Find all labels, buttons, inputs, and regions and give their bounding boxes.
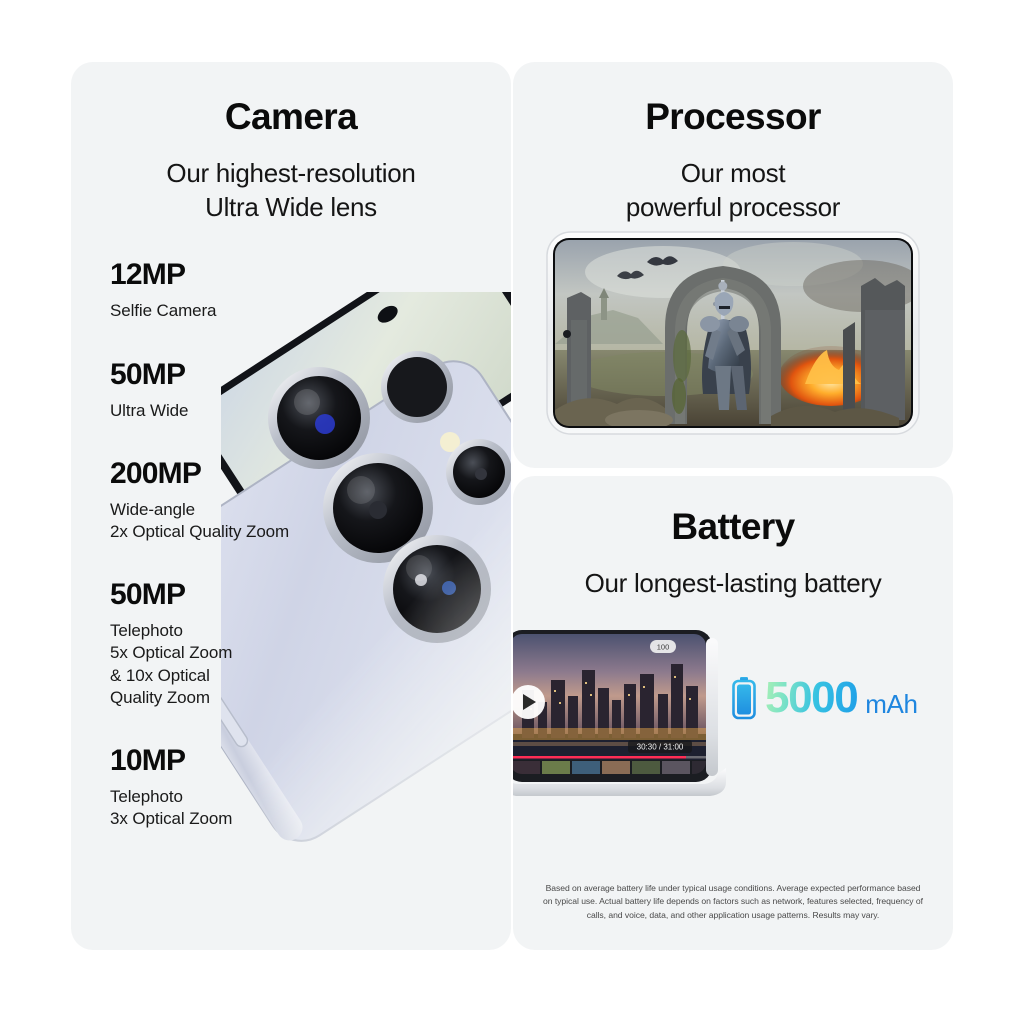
battery-capacity: 5000 mAh xyxy=(731,676,918,720)
spec-description: Selfie Camera xyxy=(110,300,370,322)
spec-description: Ultra Wide xyxy=(110,400,370,422)
spec-description: Telephoto 3x Optical Zoom xyxy=(110,786,370,831)
processor-card-subtitle: Our most powerful processor xyxy=(513,157,953,225)
camera-card-subtitle: Our highest-resolution Ultra Wide lens xyxy=(71,157,511,225)
product-feature-grid: Camera Our highest-resolution Ultra Wide… xyxy=(0,0,1024,1024)
spec-megapixels: 200MP xyxy=(110,457,370,490)
video-battery-badge: 100 xyxy=(657,643,670,652)
battery-card-title: Battery xyxy=(513,508,953,547)
spec-description: Wide-angle 2x Optical Quality Zoom xyxy=(110,499,370,544)
spec-megapixels: 50MP xyxy=(110,358,370,391)
battery-capacity-unit: mAh xyxy=(865,691,917,720)
spec-megapixels: 12MP xyxy=(110,258,370,291)
camera-spec-item: 50MP Telephoto 5x Optical Zoom & 10x Opt… xyxy=(110,578,370,710)
spec-megapixels: 10MP xyxy=(110,744,370,777)
camera-spec-item: 12MP Selfie Camera xyxy=(110,258,370,322)
battery-capacity-value: 5000 xyxy=(765,676,857,720)
camera-spec-item: 10MP Telephoto 3x Optical Zoom xyxy=(110,744,370,831)
spec-megapixels: 50MP xyxy=(110,578,370,611)
processor-phone-image xyxy=(543,224,923,442)
battery-tablet-image: 30:30 / 31:00 100 xyxy=(513,624,728,814)
video-timestamp: 30:30 / 31:00 xyxy=(637,743,684,752)
camera-spec-item: 200MP Wide-angle 2x Optical Quality Zoom xyxy=(110,457,370,544)
battery-feature-card: Battery Our longest-lasting battery xyxy=(513,476,953,950)
camera-spec-item: 50MP Ultra Wide xyxy=(110,358,370,422)
spec-description: Telephoto 5x Optical Zoom & 10x Optical … xyxy=(110,620,370,710)
camera-feature-card: Camera Our highest-resolution Ultra Wide… xyxy=(71,62,511,950)
camera-spec-list: 12MP Selfie Camera 50MP Ultra Wide 200MP… xyxy=(110,258,370,830)
processor-feature-card: Processor Our most powerful processor xyxy=(513,62,953,468)
battery-icon xyxy=(731,676,757,720)
processor-card-title: Processor xyxy=(513,98,953,137)
camera-card-title: Camera xyxy=(71,98,511,137)
battery-card-subtitle: Our longest-lasting battery xyxy=(513,567,953,601)
battery-visual-row: 30:30 / 31:00 100 xyxy=(513,624,953,834)
battery-footnote: Based on average battery life under typi… xyxy=(541,882,925,922)
